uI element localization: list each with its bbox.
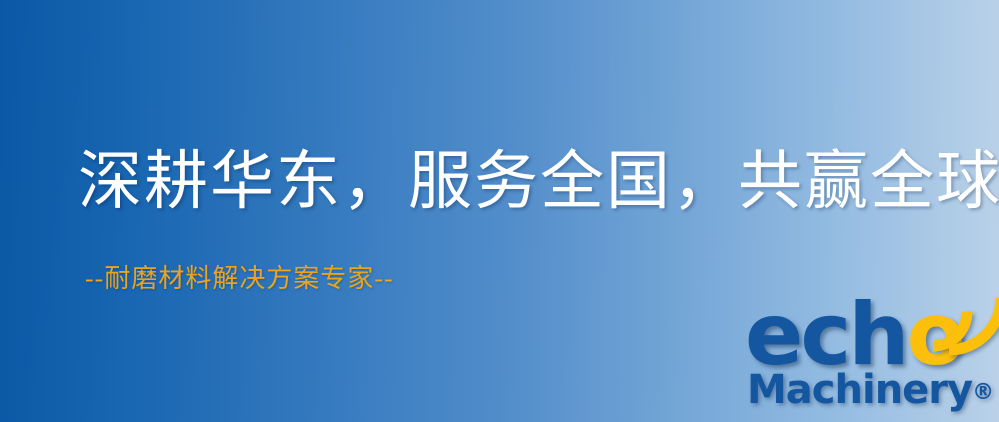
logo-brand-text: Machinery® xyxy=(747,370,994,413)
logo-brand-label: Machinery xyxy=(747,367,972,413)
hero-banner: 深耕华东，服务全国，共赢全球 --耐磨材料解决方案专家-- echo Machi… xyxy=(0,0,999,422)
registered-trademark-icon: ® xyxy=(972,380,994,405)
banner-subtitle: --耐磨材料解决方案专家-- xyxy=(85,266,394,292)
company-logo[interactable]: echo Machinery® xyxy=(745,292,999,422)
banner-headline: 深耕华东，服务全国，共赢全球 xyxy=(78,150,948,214)
signal-waves-icon xyxy=(923,288,999,358)
